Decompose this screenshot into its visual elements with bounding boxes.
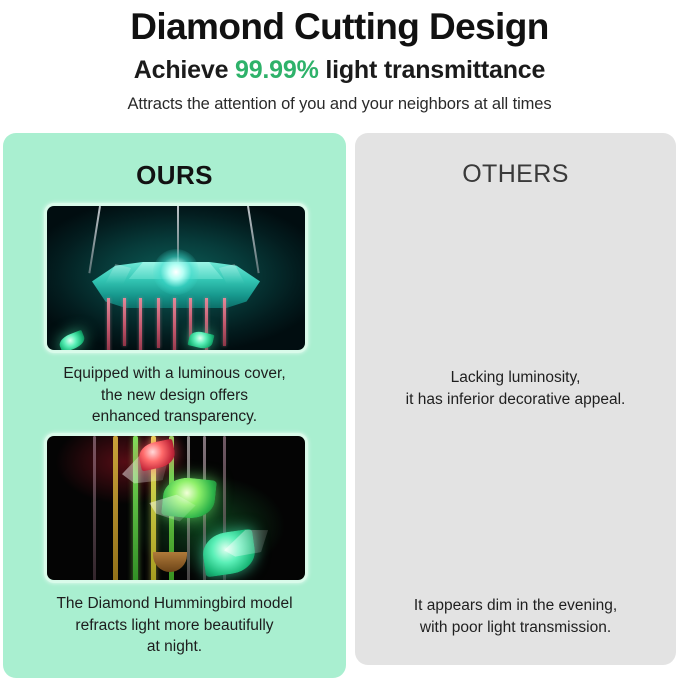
caption-line: with poor light transmission. (355, 617, 676, 639)
transmittance-percent: 99.99% (235, 56, 319, 84)
page-title: Diamond Cutting Design (0, 2, 679, 49)
glowing-teal-diamond-canopy-photo (44, 203, 308, 353)
hummingbird-ornament (57, 330, 87, 353)
center-glow (153, 249, 199, 295)
chime-rod (173, 298, 176, 353)
ours-panel-title: OURS (3, 133, 346, 191)
subtitle-prefix: Achieve (134, 56, 235, 84)
caption-line: at night. (3, 636, 346, 658)
wooden-bowl (153, 552, 187, 572)
caption-line: it has inferior decorative appeal. (355, 389, 676, 411)
caption-line: It appears dim in the evening, (355, 595, 676, 617)
chime-rod (223, 298, 226, 346)
hanging-wire (88, 206, 100, 273)
lit-chime-rod (93, 436, 96, 583)
others-caption-1: Lacking luminosity, it has inferior deco… (355, 367, 676, 410)
others-caption-2: It appears dim in the evening, with poor… (355, 595, 676, 638)
others-panel: OTHERS Lacking luminosity, (355, 133, 676, 665)
caption-line: enhanced transparency. (3, 406, 346, 428)
chime-rod (123, 298, 126, 346)
lit-crystal-hummingbirds-photo (44, 433, 308, 583)
caption-line: refracts light more beautifully (3, 615, 346, 637)
page-tagline: Attracts the attention of you and your n… (0, 86, 679, 115)
teal-night-background (47, 206, 305, 350)
page-header: Diamond Cutting Design Achieve 99.99% li… (0, 0, 679, 115)
page-subtitle: Achieve 99.99% light transmittance (0, 49, 679, 86)
hummingbird-ornament (187, 329, 214, 350)
chime-rod (139, 298, 142, 353)
ours-caption-1: Equipped with a luminous cover, the new … (3, 363, 346, 428)
caption-line: Lacking luminosity, (355, 367, 676, 389)
chime-rod (157, 298, 160, 348)
caption-line: Equipped with a luminous cover, (3, 363, 346, 385)
ours-caption-2: The Diamond Hummingbird model refracts l… (3, 593, 346, 658)
comparison-section: OURS (0, 133, 679, 681)
chime-rod (107, 298, 110, 353)
ours-panel: OURS (3, 133, 346, 678)
warm-black-background (47, 436, 305, 580)
lit-chime-rod (113, 436, 118, 583)
caption-line: the new design offers (3, 385, 346, 407)
subtitle-suffix: light transmittance (319, 56, 546, 84)
caption-line: The Diamond Hummingbird model (3, 593, 346, 615)
hanging-wire (247, 206, 259, 273)
others-panel-title: OTHERS (355, 133, 676, 189)
